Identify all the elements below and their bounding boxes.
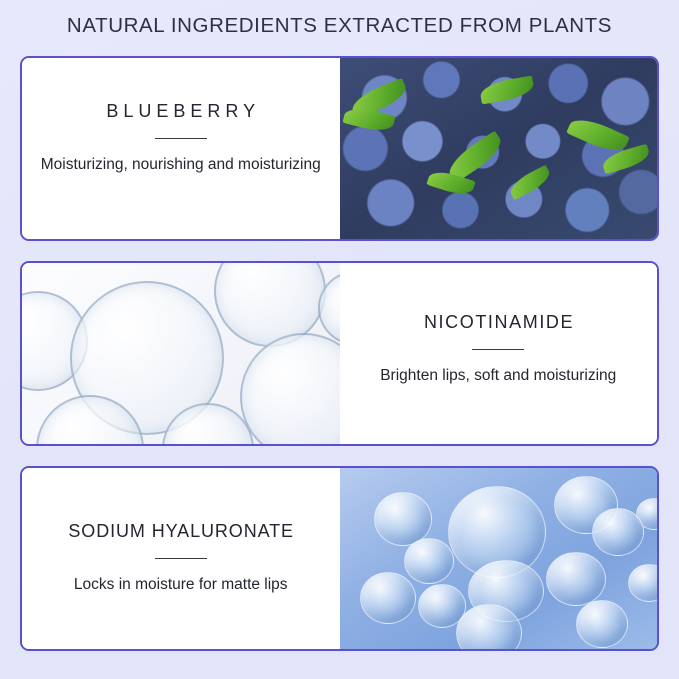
- divider: [155, 138, 207, 140]
- ingredient-description: Moisturizing, nourishing and moisturizin…: [41, 156, 321, 175]
- ingredient-name: BLUEBERRY: [101, 102, 260, 122]
- water-bubbles-photo: [22, 263, 340, 444]
- leaf-icon: [506, 165, 553, 201]
- ingredient-name: NICOTINAMIDE: [422, 313, 574, 333]
- bubble-shape: [240, 333, 340, 444]
- droplet-shape: [592, 508, 644, 556]
- ingredient-description: Locks in moisture for matte lips: [74, 576, 288, 595]
- leaf-icon: [478, 75, 535, 104]
- divider: [472, 349, 524, 351]
- divider: [155, 558, 207, 560]
- ingredient-text-pane: NICOTINAMIDE Brighten lips, soft and moi…: [340, 263, 658, 444]
- blueberry-photo: [340, 58, 658, 239]
- ingredient-description: Brighten lips, soft and moisturizing: [380, 367, 616, 386]
- ingredient-text-pane: BLUEBERRY Moisturizing, nourishing and m…: [22, 58, 340, 239]
- ingredient-card-sodium-hyaluronate: SODIUM HYALURONATE Locks in moisture for…: [20, 466, 659, 651]
- ingredient-name: SODIUM HYALURONATE: [68, 522, 294, 542]
- ingredient-text-pane: SODIUM HYALURONATE Locks in moisture for…: [22, 468, 340, 649]
- droplet-shape: [360, 572, 416, 624]
- droplet-shape: [628, 564, 658, 602]
- droplet-shape: [404, 538, 454, 584]
- ingredient-card-nicotinamide: NICOTINAMIDE Brighten lips, soft and moi…: [20, 261, 659, 446]
- droplet-shape: [576, 600, 628, 648]
- water-droplets-photo: [340, 468, 658, 649]
- ingredient-card-blueberry: BLUEBERRY Moisturizing, nourishing and m…: [20, 56, 659, 241]
- droplet-shape: [546, 552, 606, 606]
- ingredients-infographic: NATURAL INGREDIENTS EXTRACTED FROM PLANT…: [0, 0, 679, 679]
- page-title: NATURAL INGREDIENTS EXTRACTED FROM PLANT…: [0, 14, 679, 38]
